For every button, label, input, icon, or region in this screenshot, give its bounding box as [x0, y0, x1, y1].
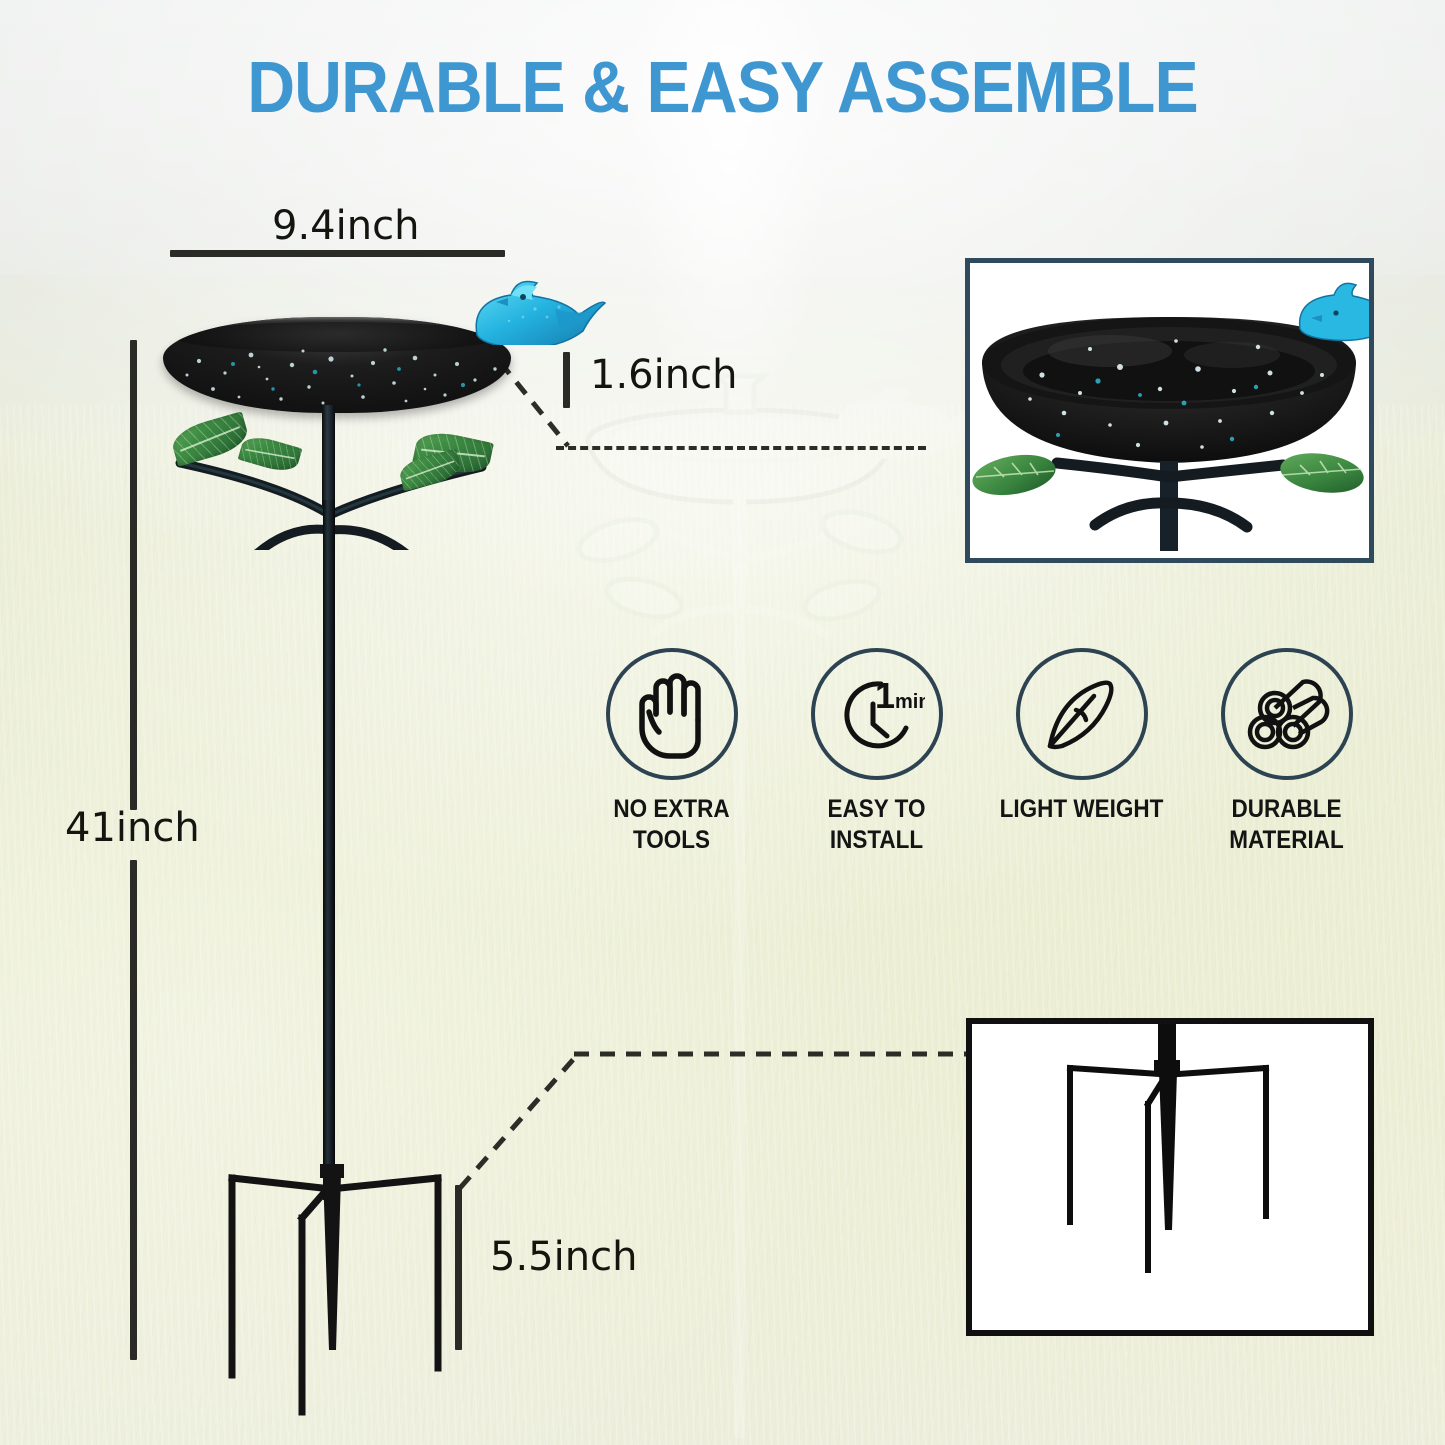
feature-light-weight[interactable]: LIGHT WEIGHT — [984, 648, 1179, 825]
support-pole — [323, 500, 335, 1200]
inset-stake-closeup — [966, 1018, 1374, 1336]
feature-circle: 1 min — [811, 648, 943, 780]
inset-stake-spike — [1159, 1072, 1177, 1230]
dimension-label-bowl-width: 9.4inch — [272, 203, 419, 249]
feature-badges: NO EXTRA TOOLS 1 min EASY TO INSTALL — [574, 648, 1384, 898]
stake-collar — [320, 1164, 344, 1178]
inset-bird — [1300, 283, 1369, 340]
feather-icon — [1036, 668, 1128, 760]
inset-bowl-svg — [970, 263, 1369, 558]
feature-no-extra-tools[interactable]: NO EXTRA TOOLS — [574, 648, 769, 855]
leader-lines-bowl-depth — [496, 350, 956, 460]
feature-label: NO EXTRA TOOLS — [584, 794, 760, 855]
bird-figurine-svg — [447, 265, 607, 345]
ground-stake — [190, 1160, 480, 1420]
feature-durable-material[interactable]: DURABLE MATERIAL — [1189, 648, 1384, 855]
measure-bar-bowl-width — [170, 250, 505, 257]
feature-label: DURABLE MATERIAL — [1199, 794, 1375, 855]
infographic-canvas: DURABLE & EASY ASSEMBLE — [0, 0, 1445, 1445]
clock-badge-unit: min — [895, 691, 925, 713]
inset-stake-svg — [972, 1024, 1368, 1330]
measure-bar-height-lower — [130, 860, 137, 1360]
clock-badge-number: 1 — [875, 675, 895, 716]
dimension-label-total-height: 41inch — [65, 805, 200, 851]
dimension-label-stake-depth: 5.5inch — [490, 1234, 637, 1280]
measure-bar-height-upper — [130, 340, 137, 810]
feature-circle — [606, 648, 738, 780]
feature-label: EASY TO INSTALL — [789, 794, 965, 855]
feature-circle — [1221, 648, 1353, 780]
pipes-icon — [1241, 668, 1333, 760]
feature-circle — [1016, 648, 1148, 780]
stake-center-spike — [323, 1174, 341, 1350]
leader-line-depth-bottom — [556, 446, 926, 450]
clock-icon: 1 min — [829, 668, 925, 760]
hand-icon — [630, 668, 714, 760]
feature-label: LIGHT WEIGHT — [994, 794, 1170, 825]
leader-lines-stake — [450, 1040, 980, 1200]
feature-easy-to-install[interactable]: 1 min EASY TO INSTALL — [779, 648, 974, 855]
bird-figurine — [447, 265, 607, 345]
inset-bowl-closeup — [965, 258, 1374, 563]
